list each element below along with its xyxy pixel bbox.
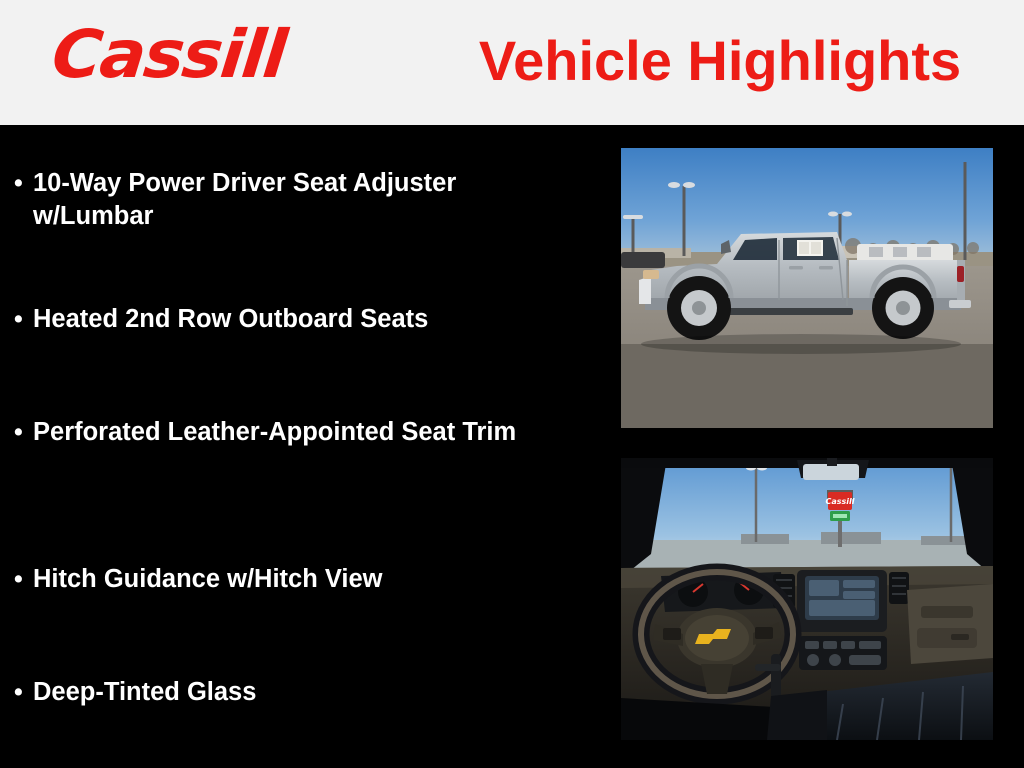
highlight-label: Perforated Leather-Appointed Seat Trim	[32, 416, 574, 449]
bullet-icon: •	[14, 167, 32, 200]
page-title: Vehicle Highlights	[440, 28, 1000, 94]
highlight-label: Hitch Guidance w/Hitch View	[32, 563, 574, 596]
exterior-illustration	[621, 148, 993, 428]
bullet-icon: •	[14, 563, 32, 596]
interior-illustration: Cassill	[621, 458, 993, 740]
list-item: • Perforated Leather-Appointed Seat Trim	[14, 416, 574, 449]
bullet-icon: •	[14, 416, 32, 449]
list-item: • Heated 2nd Row Outboard Seats	[14, 303, 574, 336]
vehicle-highlights-list: • 10-Way Power Driver Seat Adjuster w/Lu…	[0, 125, 600, 768]
list-item: • Deep-Tinted Glass	[14, 676, 574, 709]
slide-body: • 10-Way Power Driver Seat Adjuster w/Lu…	[0, 125, 1024, 768]
highlight-label: 10-Way Power Driver Seat Adjuster w/Lumb…	[32, 167, 574, 233]
svg-text:Cassill: Cassill	[825, 497, 854, 506]
bullet-icon: •	[14, 303, 32, 336]
highlight-label: Deep-Tinted Glass	[32, 676, 574, 709]
header-bar: Cassill Vehicle Highlights	[0, 0, 1024, 125]
vehicle-interior-photo: Cassill	[621, 458, 993, 740]
list-item: • Hitch Guidance w/Hitch View	[14, 563, 574, 596]
vehicle-exterior-photo	[621, 148, 993, 428]
bullet-icon: •	[14, 676, 32, 709]
list-item: • 10-Way Power Driver Seat Adjuster w/Lu…	[14, 167, 574, 233]
highlight-label: Heated 2nd Row Outboard Seats	[32, 303, 574, 336]
brand-logo: Cassill	[49, 22, 288, 88]
